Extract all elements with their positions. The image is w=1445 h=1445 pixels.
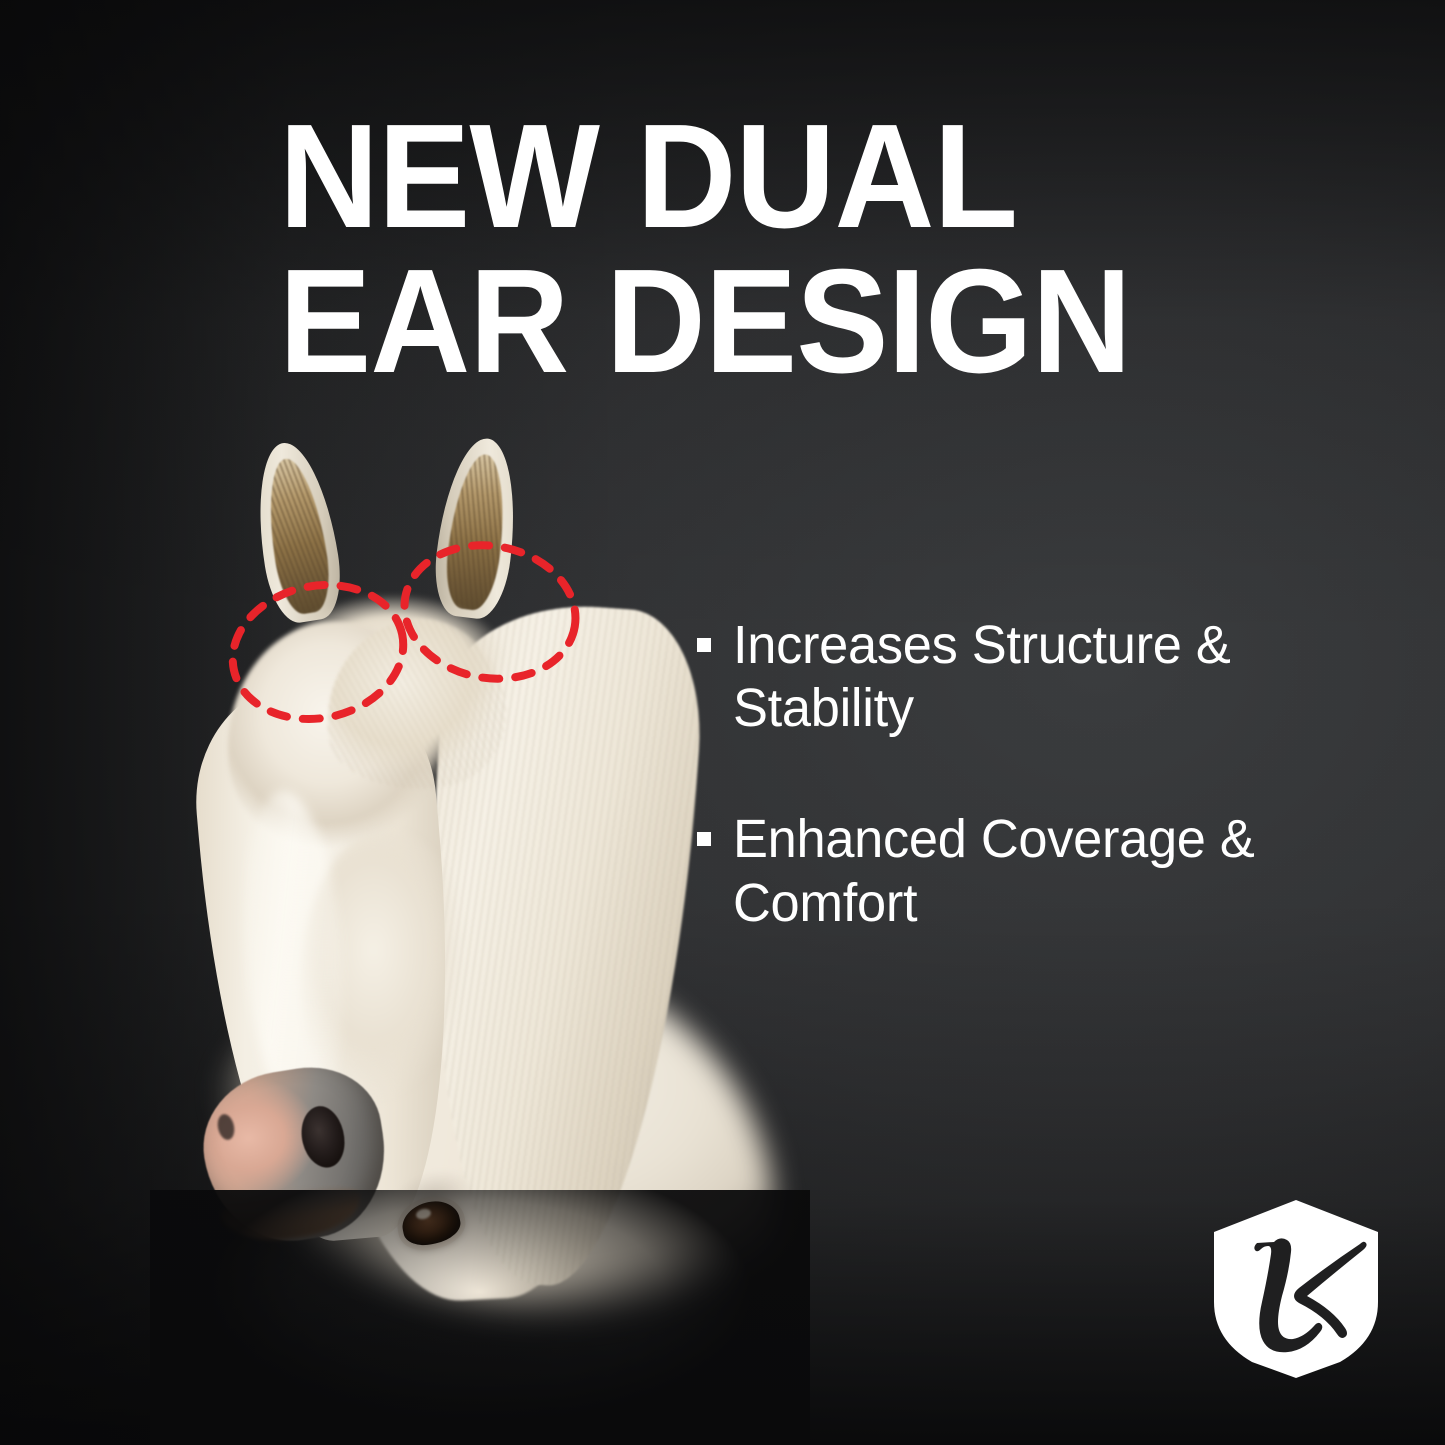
bullet-label: Enhanced Coverage & Comfort [733,808,1358,934]
shield-icon [1214,1200,1378,1378]
headline: NEW DUAL EAR DESIGN [279,104,1177,394]
list-item: Enhanced Coverage & Comfort [697,808,1377,934]
square-bullet-icon [697,638,711,652]
headline-line-1: NEW DUAL [279,104,1177,249]
feature-bullet-list: Increases Structure & Stability Enhanced… [697,614,1377,935]
bullet-label: Increases Structure & Stability [733,614,1358,740]
list-item: Increases Structure & Stability [697,614,1377,740]
square-bullet-icon [697,832,711,846]
horse-photo [150,430,790,1430]
headline-line-2: EAR DESIGN [279,249,1177,394]
marketing-graphic-canvas: NEW DUAL EAR DESIGN [0,0,1445,1445]
brand-logo [1208,1198,1384,1380]
horse-bottom-fade [150,1190,810,1445]
